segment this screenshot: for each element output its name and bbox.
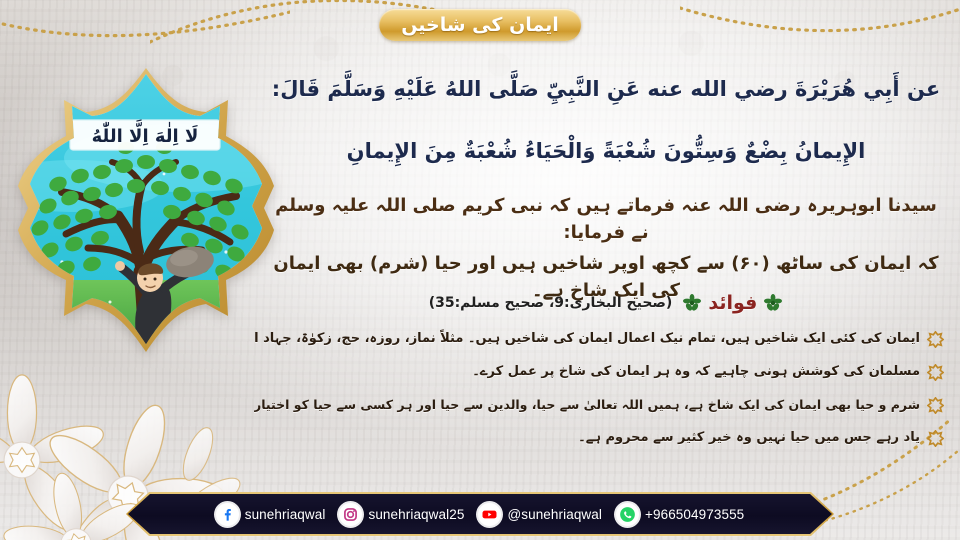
instagram-icon[interactable] bbox=[339, 503, 362, 526]
content-column: عن أَبِي هُرَيْرَةَ رضي الله عنه عَنِ ال… bbox=[260, 0, 960, 540]
social-item-facebook[interactable]: sunehriaqwal bbox=[216, 503, 326, 526]
list-item-text: مسلمان کی کوشش ہونی چاہیے کہ وہ ہر ایمان… bbox=[254, 359, 920, 385]
benefits-list: ایمان کی کئی ایک شاخیں ہیں، تمام نیک اعم… bbox=[254, 326, 944, 458]
page-title: ایمان کی شاخیں bbox=[401, 16, 559, 35]
tree-of-faith-emblem: لَا اِلٰهَ اِلَّا اللّٰهُ bbox=[14, 66, 278, 356]
facebook-handle: sunehriaqwal bbox=[245, 507, 326, 522]
youtube-icon[interactable] bbox=[478, 503, 501, 526]
list-item: مسلمان کی کوشش ہونی چاہیے کہ وہ ہر ایمان… bbox=[254, 359, 944, 387]
instagram-handle: sunehriaqwal25 bbox=[368, 507, 464, 522]
star-bullet-icon bbox=[927, 397, 944, 414]
hadith-arabic-line-2: الإِيمانُ بِضْعٌ وَسِتُّونَ شُعْبَةً وَا… bbox=[270, 136, 942, 166]
poster-title-banner: ایمان کی شاخیں bbox=[379, 9, 581, 41]
social-item-youtube[interactable]: @sunehriaqwal bbox=[478, 503, 602, 526]
footer-items: sunehriaqwal sunehriaqwal25 bbox=[128, 494, 832, 534]
benefits-heading-text: فوائد bbox=[708, 292, 757, 314]
poster-root: ایمان کی شاخیں bbox=[0, 0, 960, 540]
list-item: یاد رہے جس میں حیا نہیں وہ خیر کثیر سے م… bbox=[254, 425, 944, 453]
list-item: شرم و حیا بھی ایمان کی ایک شاخ ہے، ہمیں … bbox=[254, 392, 944, 420]
youtube-handle: @sunehriaqwal bbox=[507, 507, 602, 522]
hadith-urdu-intro: سیدنا ابوہریرہ رضی اللہ عنہ فرماتے ہیں ک… bbox=[270, 192, 942, 246]
facebook-icon[interactable] bbox=[216, 503, 239, 526]
social-item-instagram[interactable]: sunehriaqwal25 bbox=[339, 503, 464, 526]
floral-ornament-left-icon bbox=[682, 293, 702, 313]
floral-ornament-right-icon bbox=[763, 293, 783, 313]
whatsapp-handle: +966504973555 bbox=[645, 507, 744, 522]
whatsapp-icon[interactable] bbox=[616, 503, 639, 526]
star-bullet-icon bbox=[927, 430, 944, 447]
list-item: ایمان کی کئی ایک شاخیں ہیں، تمام نیک اعم… bbox=[254, 326, 944, 354]
hadith-reference: (صحیح البخاری:9، صحیح مسلم:35) bbox=[429, 295, 673, 311]
star-bullet-icon bbox=[927, 364, 944, 381]
benefits-heading-row: فوائد (صحیح البخاری:9، صحیح مسلم:35) bbox=[270, 292, 942, 314]
hadith-arabic-line-1: عن أَبِي هُرَيْرَةَ رضي الله عنه عَنِ ال… bbox=[270, 74, 942, 104]
footer-social-bar: sunehriaqwal sunehriaqwal25 bbox=[128, 494, 832, 534]
list-item-text: یاد رہے جس میں حیا نہیں وہ خیر کثیر سے م… bbox=[254, 425, 920, 451]
social-item-whatsapp[interactable]: +966504973555 bbox=[616, 503, 744, 526]
list-item-text: شرم و حیا بھی ایمان کی ایک شاخ ہے، ہمیں … bbox=[254, 392, 920, 418]
star-bullet-icon bbox=[927, 331, 944, 348]
kalima-plaque: لَا اِلٰهَ اِلَّا اللّٰهُ bbox=[70, 119, 220, 150]
benefits-heading: فوائد bbox=[682, 292, 783, 314]
list-item-text: ایمان کی کئی ایک شاخیں ہیں، تمام نیک اعم… bbox=[254, 326, 920, 352]
